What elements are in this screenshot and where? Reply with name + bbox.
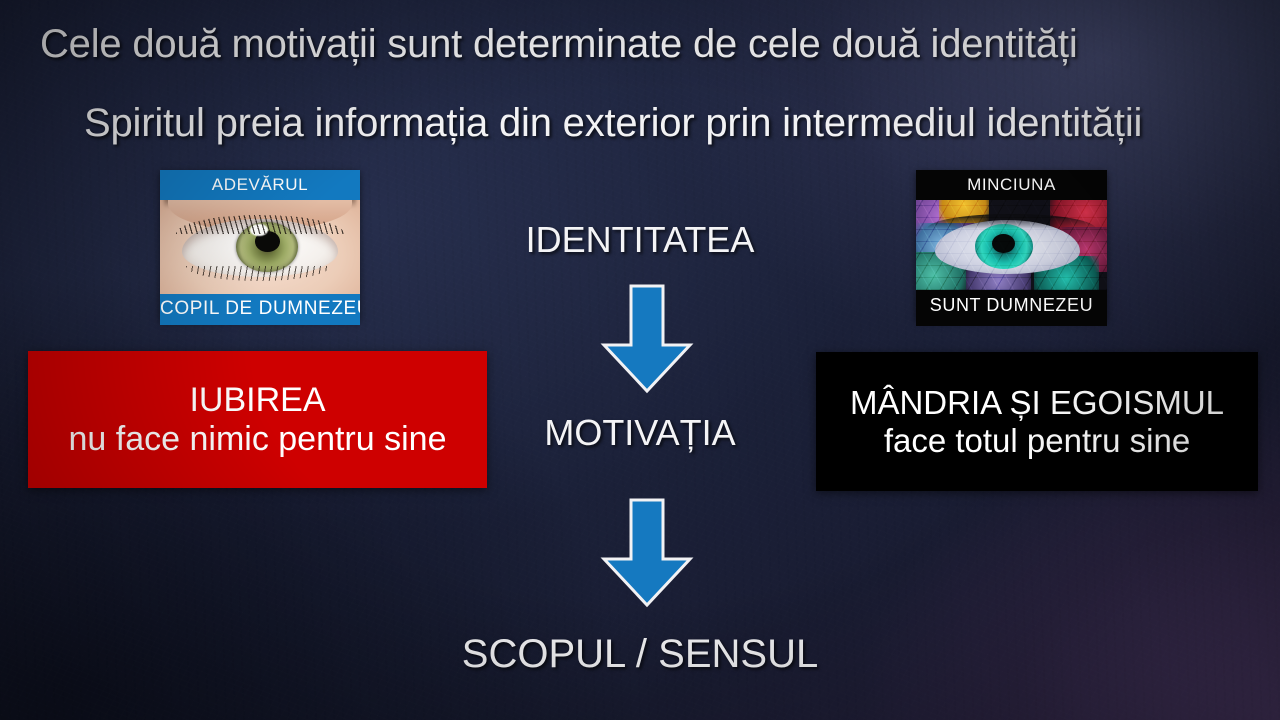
down-arrow-icon-2 — [599, 497, 695, 609]
lie-card-bottom-label: SUNT DUMNEZEU — [916, 290, 1107, 326]
flow-step-purpose: SCOPUL / SENSUL — [0, 632, 1280, 677]
flow-step-identity: IDENTITATEA — [0, 219, 1280, 261]
down-arrow-icon-1 — [599, 283, 695, 395]
flow-step-motivation: MOTIVAȚIA — [0, 412, 1280, 454]
heading-line-2: Spiritul preia informația din exterior p… — [84, 101, 1142, 146]
truth-card-bottom-label: COPIL DE DUMNEZEU — [160, 294, 360, 325]
truth-card-top-label: ADEVĂRUL — [160, 170, 360, 200]
lie-card-top-label: MINCIUNA — [916, 170, 1107, 200]
slide-canvas: Cele două motivații sunt determinate de … — [0, 0, 1280, 720]
heading-line-1: Cele două motivații sunt determinate de … — [40, 22, 1078, 67]
